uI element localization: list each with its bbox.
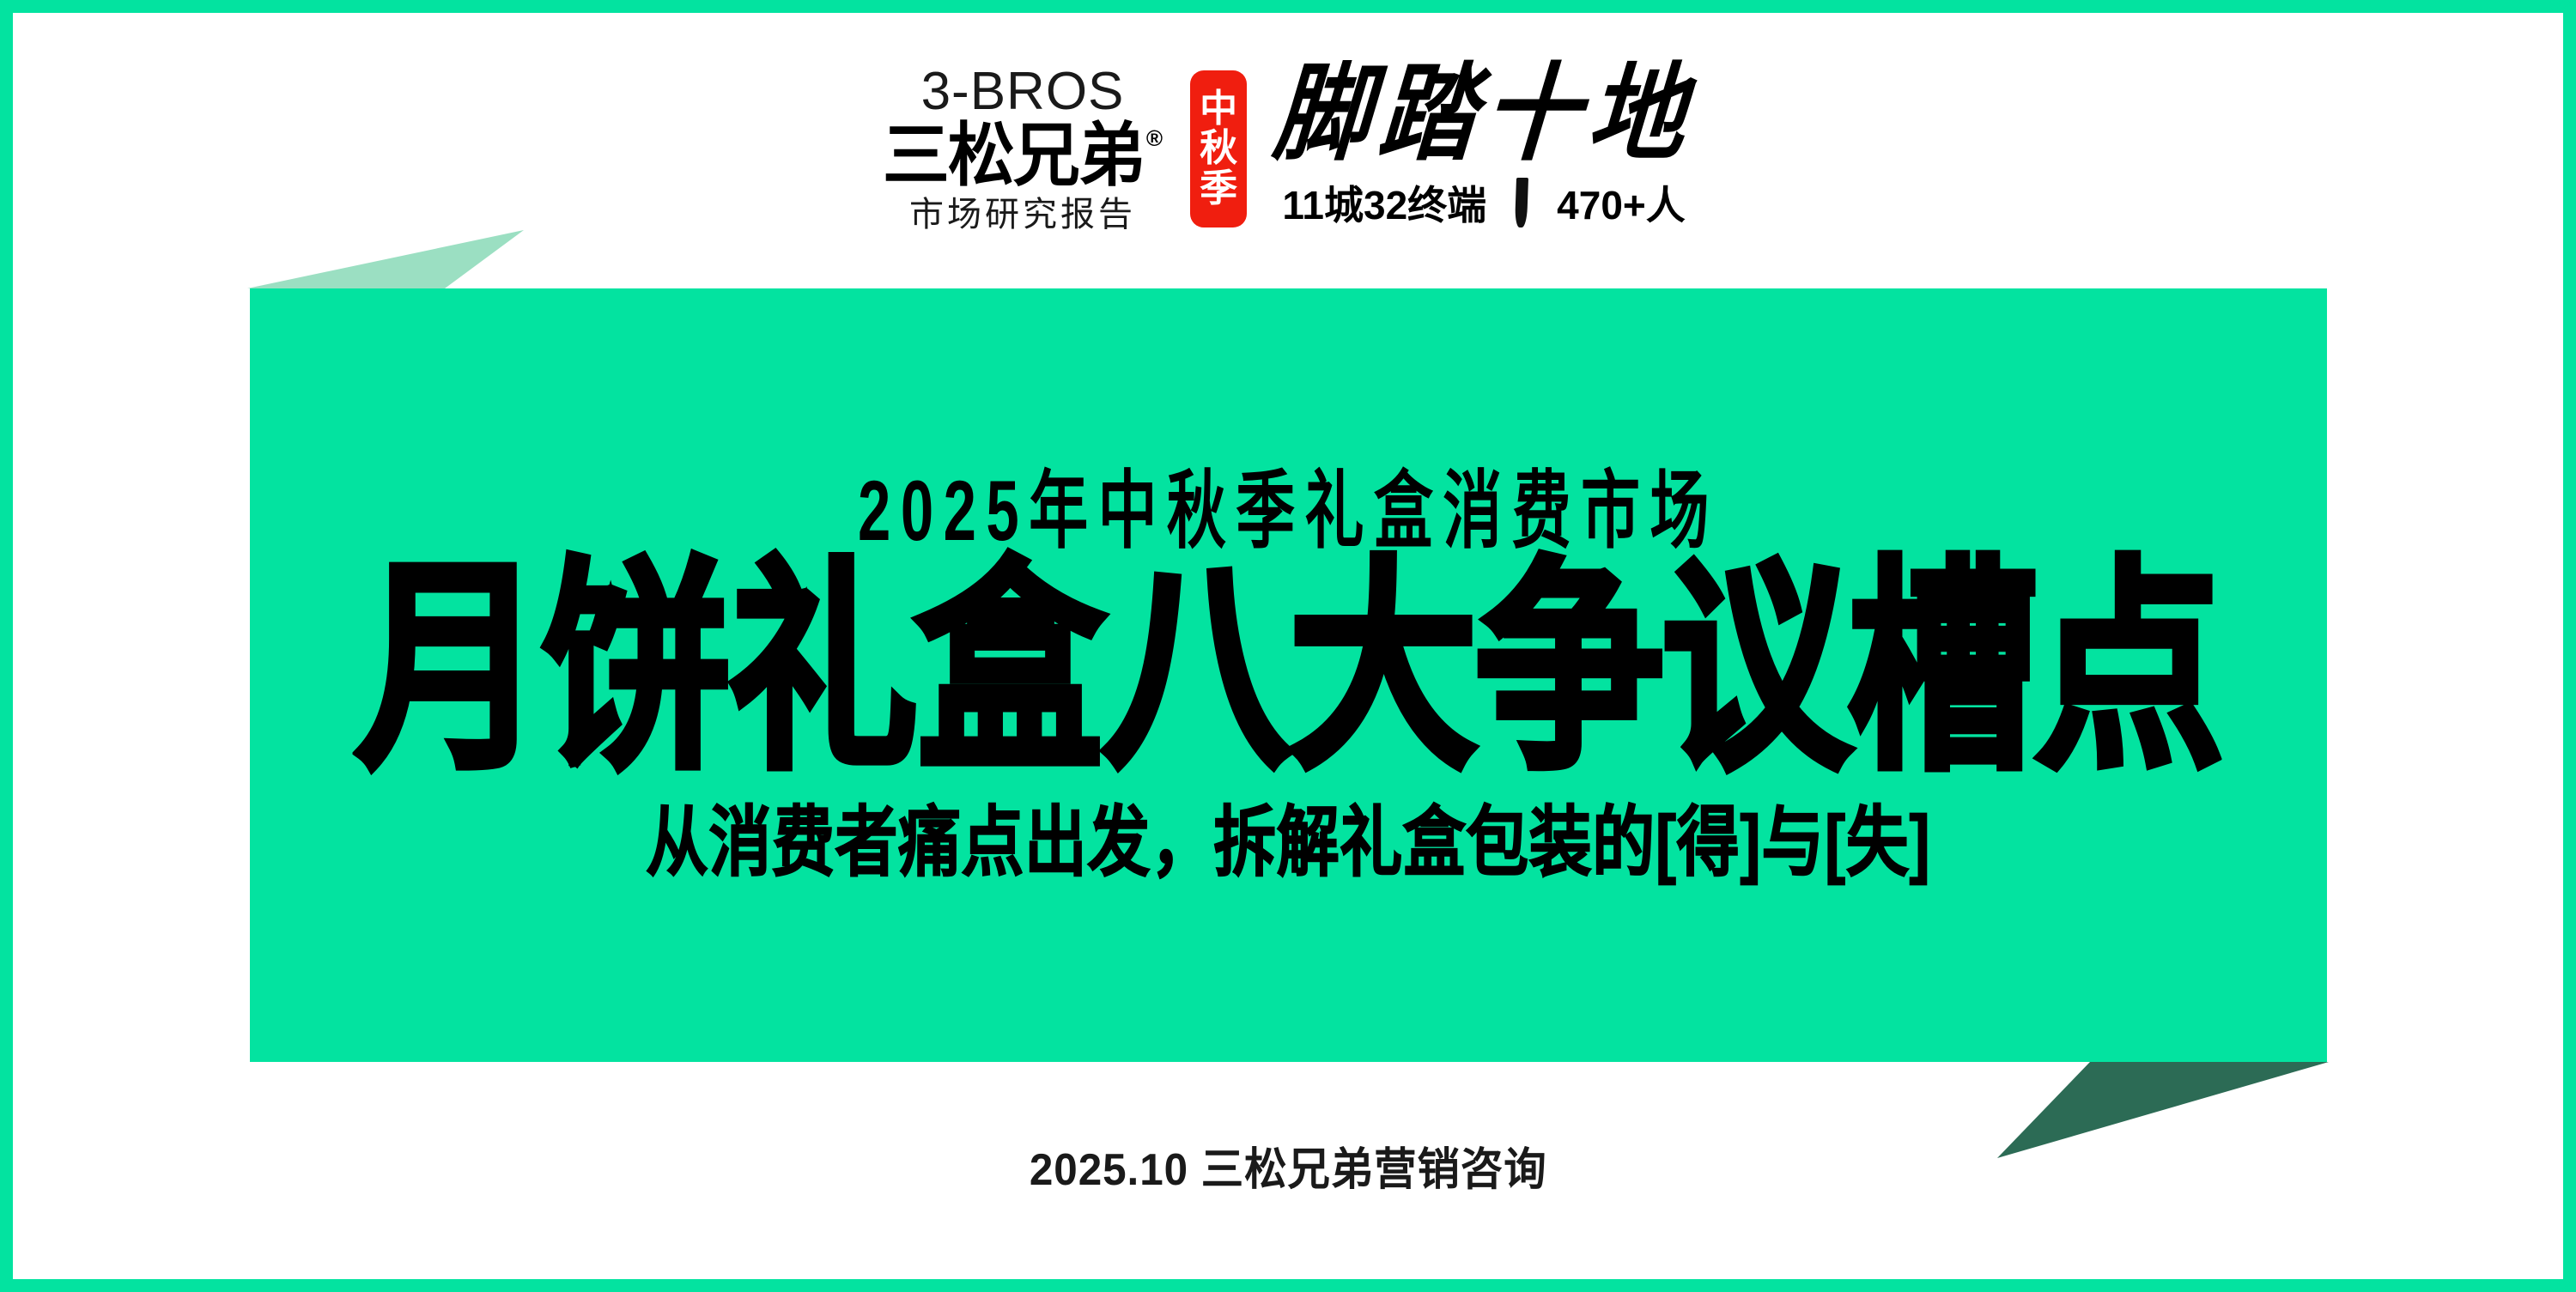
brand-logo: 3-BROS 三松兄弟 ® 市场研究报告 [883,65,1163,232]
campaign-block: 脚踏十地 11城32终端 470+人 [1274,66,1693,231]
festival-badge-char-2: 秋 [1200,129,1237,167]
hero-panel: 2025年中秋季礼盒消费市场 月饼礼盒八大争议槽点 从消费者痛点出发，拆解礼盒包… [250,288,2327,1062]
footer-credit: 2025.10 三松兄弟营销咨询 [1030,1133,1547,1198]
poster-page: 3-BROS 三松兄弟 ® 市场研究报告 中 秋 季 脚踏十地 11城32终端 … [0,0,2576,1292]
footer: 2025.10 三松兄弟营销咨询 [0,1133,2576,1198]
registered-trademark-icon: ® [1146,127,1163,149]
brand-tagline: 市场研究报告 [909,197,1136,232]
header-band: 3-BROS 三松兄弟 ® 市场研究报告 中 秋 季 脚踏十地 11城32终端 … [0,41,2576,256]
festival-badge-char-1: 中 [1200,89,1237,128]
campaign-stats: 11城32终端 470+人 [1282,174,1685,231]
campaign-brush-title: 脚踏十地 [1271,61,1698,167]
page-title: 月饼礼盒八大争议槽点 [355,555,2221,780]
brand-chinese-wrap: 三松兄弟 ® [883,124,1163,187]
campaign-stat-cities-terminals: 11城32终端 [1282,174,1486,231]
hero-kicker: 2025年中秋季礼盒消费市场 [858,468,1719,553]
brush-stroke-divider-icon [1515,178,1528,227]
festival-badge-char-3: 季 [1200,169,1237,208]
hero-subtitle: 从消费者痛点出发，拆解礼盒包装的[得]与[失] [646,804,1930,881]
brand-english-name: 3-BROS [921,65,1125,118]
brand-chinese-name: 三松兄弟 [883,122,1144,188]
campaign-stat-people: 470+人 [1557,174,1686,231]
festival-season-badge: 中 秋 季 [1190,70,1247,227]
